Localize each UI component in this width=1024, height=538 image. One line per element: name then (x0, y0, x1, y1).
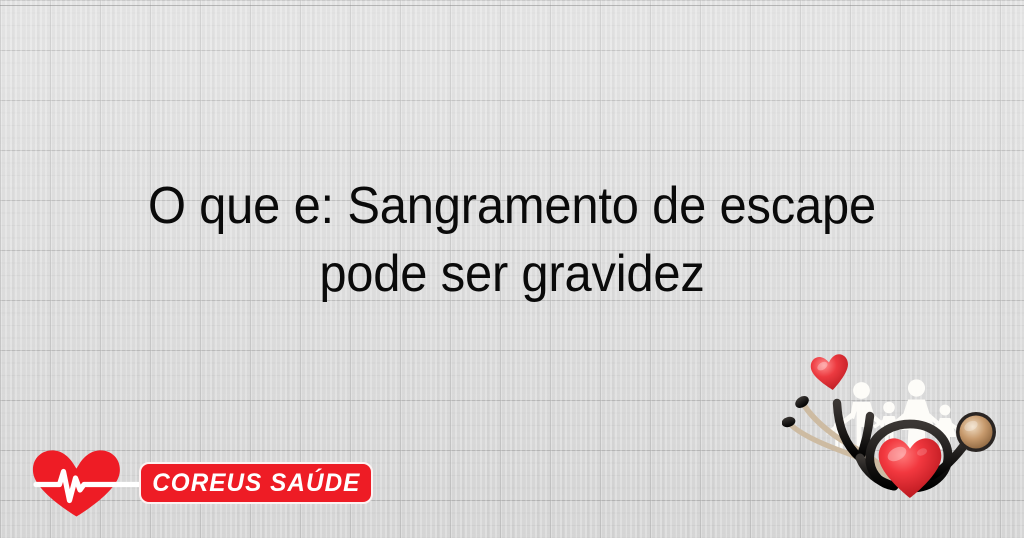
chest-piece-icon (956, 412, 996, 452)
small-heart-icon (810, 353, 852, 392)
brand-badge[interactable]: COREUS SAÚDE (139, 462, 373, 504)
brand-logo[interactable]: COREUS SAÚDE (30, 448, 350, 520)
brand-name-label: COREUS SAÚDE (152, 469, 360, 498)
medical-illustration (782, 348, 1024, 538)
heart-ecg-icon (30, 448, 152, 525)
page-title: O que e: Sangramento de escape pode ser … (31, 172, 994, 308)
thumbnail-card: O que e: Sangramento de escape pode ser … (0, 0, 1024, 538)
top-edge-divider (0, 5, 1024, 6)
